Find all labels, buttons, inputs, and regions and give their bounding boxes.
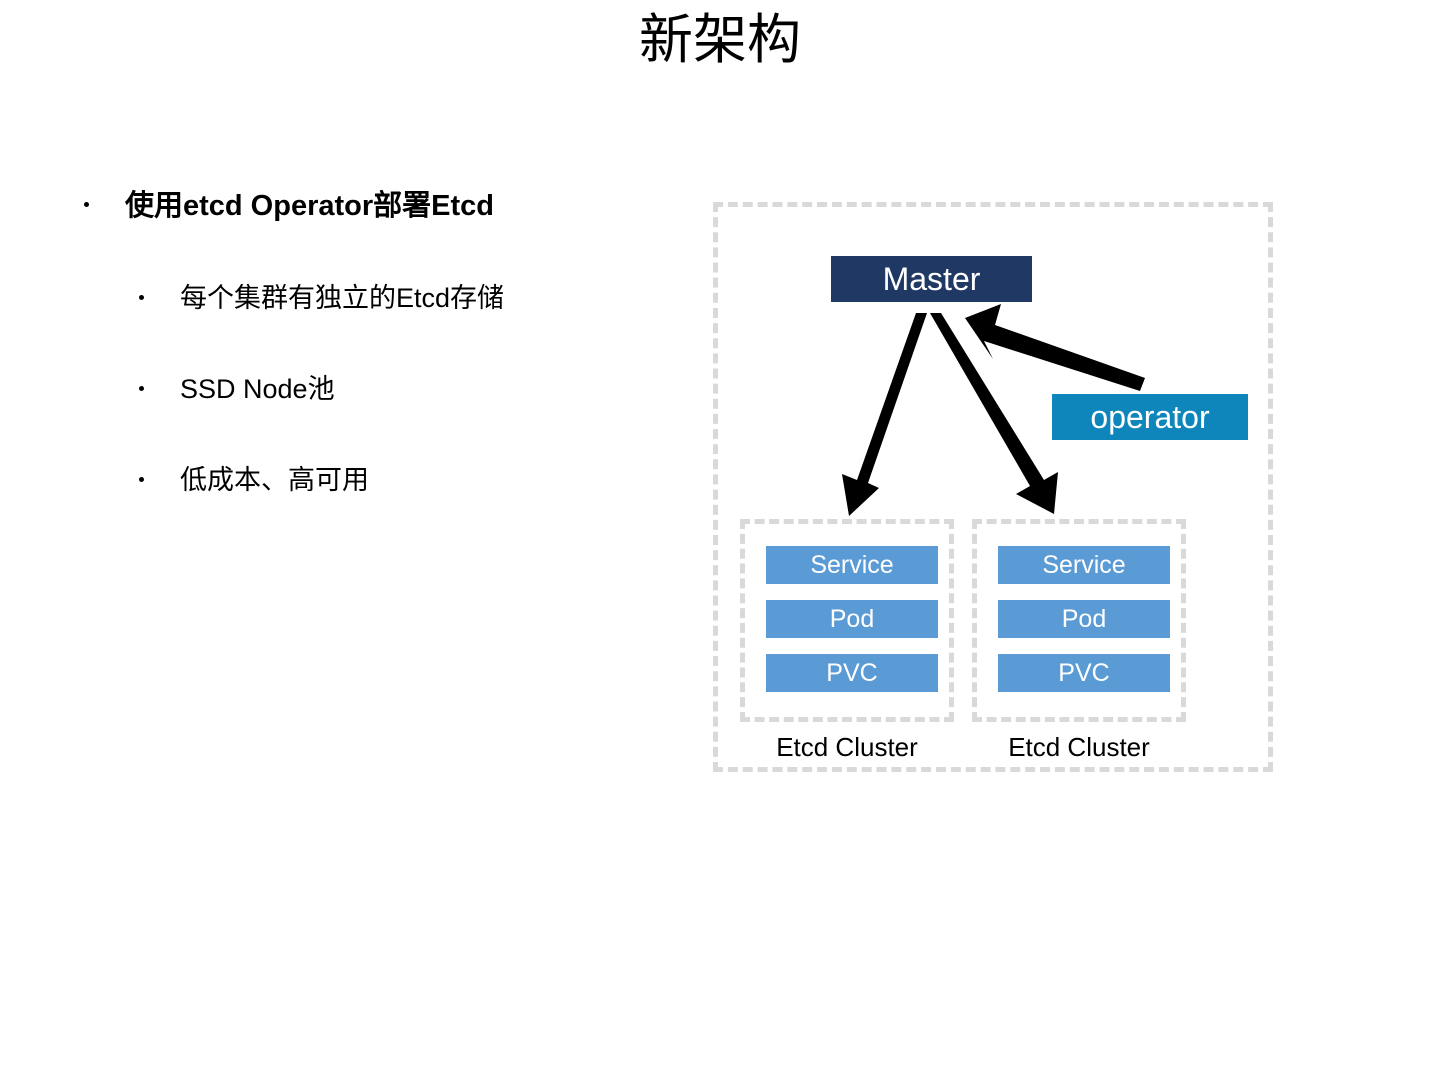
bullet-item-level1-label: 使用etcd Operator部署Etcd (125, 190, 494, 222)
bullet-dot-icon (139, 386, 144, 391)
etcd-cluster-right[interactable]: Service Pod PVC (972, 519, 1186, 722)
bullet-item-level2: SSD Node池 (76, 371, 676, 407)
bullet-list: 使用etcd Operator部署Etcd 每个集群有独立的Etcd存储 SSD… (76, 186, 676, 553)
architecture-diagram: Master operator Service Pod PVC Service … (713, 202, 1273, 772)
node-master[interactable]: Master (831, 256, 1032, 302)
resource-service[interactable]: Service (998, 546, 1170, 584)
resource-pvc[interactable]: PVC (998, 654, 1170, 692)
node-operator[interactable]: operator (1052, 394, 1248, 440)
etcd-cluster-left[interactable]: Service Pod PVC (740, 519, 954, 722)
resource-service-label: Service (1042, 551, 1125, 580)
resource-pvc[interactable]: PVC (766, 654, 938, 692)
bullet-item-level2-label: SSD Node池 (180, 374, 335, 404)
etcd-cluster-left-label: Etcd Cluster (740, 730, 954, 764)
etcd-cluster-right-resources: Service Pod PVC (998, 546, 1170, 692)
node-operator-label: operator (1090, 399, 1209, 436)
etcd-cluster-right-label: Etcd Cluster (972, 730, 1186, 764)
resource-pvc-label: PVC (826, 659, 877, 688)
resource-pod[interactable]: Pod (766, 600, 938, 638)
bullet-item-level2: 低成本、高可用 (76, 462, 676, 498)
resource-pvc-label: PVC (1058, 659, 1109, 688)
node-master-label: Master (883, 261, 981, 298)
bullet-dot-icon (84, 202, 89, 207)
etcd-cluster-left-resources: Service Pod PVC (766, 546, 938, 692)
bullet-item-level2-label: 每个集群有独立的Etcd存储 (180, 283, 504, 313)
bullet-dot-icon (139, 477, 144, 482)
resource-service[interactable]: Service (766, 546, 938, 584)
bullet-dot-icon (139, 295, 144, 300)
resource-pod-label: Pod (1062, 605, 1106, 634)
bullet-item-level2-label: 低成本、高可用 (180, 465, 369, 495)
resource-pod-label: Pod (830, 605, 874, 634)
bullet-item-level2: 每个集群有独立的Etcd存储 (76, 280, 676, 316)
resource-pod[interactable]: Pod (998, 600, 1170, 638)
resource-service-label: Service (810, 551, 893, 580)
bullet-item-level1: 使用etcd Operator部署Etcd (76, 186, 676, 226)
page-title: 新架构 (0, 6, 1440, 74)
